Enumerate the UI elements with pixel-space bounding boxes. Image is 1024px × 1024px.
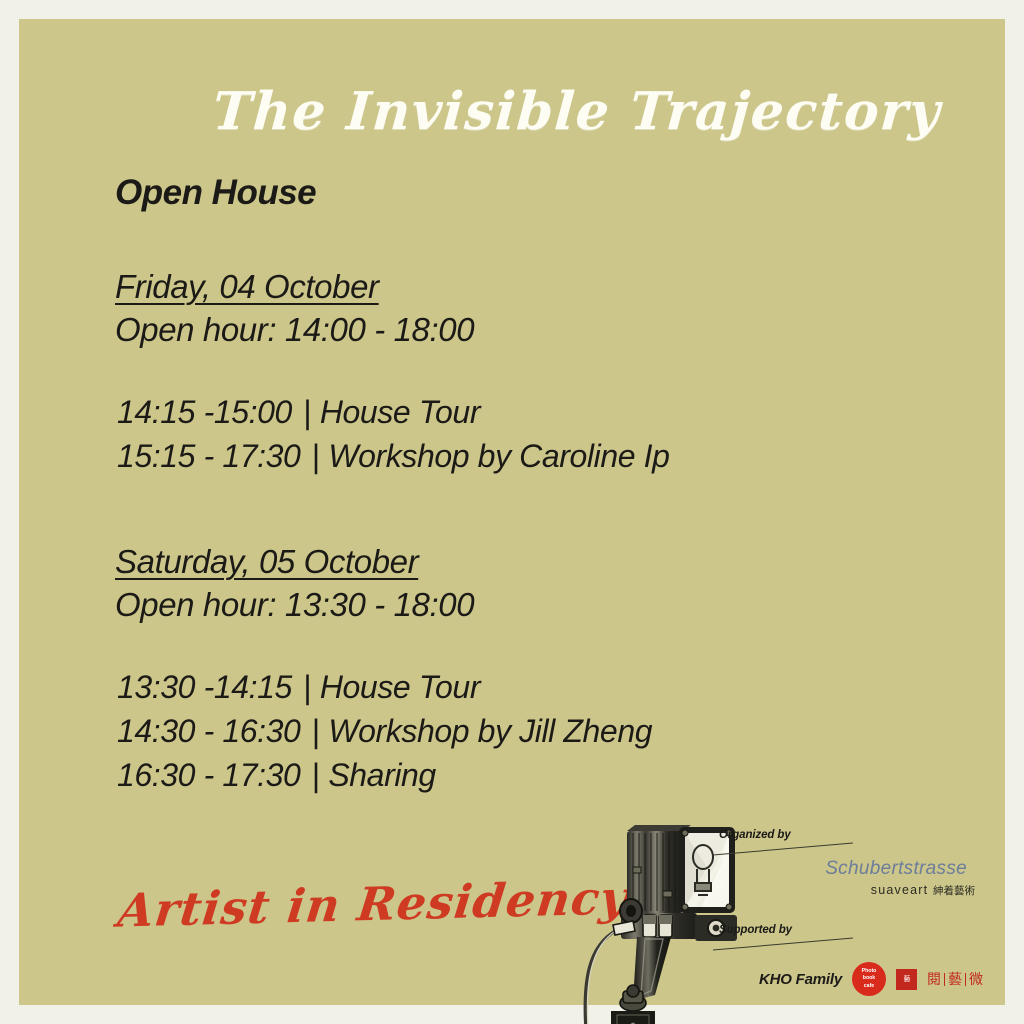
credits-block: Organized by Schubertstrasse suaveart 紳着… [719, 829, 989, 996]
session-row: 15:15 - 17:30|Workshop by Caroline Ip [117, 434, 670, 478]
red-seal-logo: 藝 [896, 969, 917, 990]
pbc-line-2: book [863, 975, 875, 983]
day-block-friday: Friday, 04 October Open hour: 14:00 - 18… [115, 265, 670, 478]
pbc-line-1: Photo [862, 968, 877, 976]
organized-by-label: Organized by [719, 829, 989, 841]
pbc-line-3: cafe [864, 983, 874, 991]
session-separator: | [300, 753, 328, 797]
session-name: Workshop by Jill Zheng [328, 713, 652, 749]
session-name: Workshop by Caroline Ip [328, 438, 669, 474]
cjk-supporter-logo: 閱 藝 微 [927, 969, 983, 989]
day-open-hour: Open hour: 13:30 - 18:00 [115, 583, 670, 627]
session-time: 16:30 - 17:30 [117, 757, 300, 793]
cjk-divider-bar [965, 973, 966, 986]
section-heading: Open House [115, 174, 670, 213]
schedule-section: Open House Friday, 04 October Open hour:… [115, 174, 670, 837]
session-row: 16:30 - 17:30|Sharing [117, 753, 670, 797]
cjk-mark-2: 藝 [948, 969, 962, 989]
page-title: The Invisible Trajectory [211, 81, 943, 142]
session-row: 14:15 -15:00|House Tour [117, 390, 670, 434]
session-list: 13:30 -14:15|House Tour 14:30 - 16:30|Wo… [115, 665, 670, 797]
session-separator: | [292, 665, 320, 709]
supporter-logo-row: KHO Family Photo book cafe 藝 閱 藝 微 [719, 962, 989, 996]
supported-by-label: Supported by [719, 924, 989, 936]
cjk-divider-bar [944, 973, 945, 986]
session-name: Sharing [328, 757, 436, 793]
session-name: House Tour [320, 394, 480, 430]
day-date: Saturday, 05 October [115, 540, 670, 584]
brand-schubertstrasse: Schubertstrasse [719, 858, 989, 880]
supporter-kho-family: KHO Family [759, 971, 842, 988]
day-open-hour: Open hour: 14:00 - 18:00 [115, 308, 670, 352]
session-separator: | [292, 390, 320, 434]
cjk-mark-3: 微 [969, 969, 983, 989]
cjk-mark-1: 閱 [927, 969, 941, 989]
poster-canvas: The Invisible Trajectory Open House Frid… [0, 0, 1024, 1024]
divider-line [713, 842, 853, 856]
brand-suaveart: suaveart 紳着藝術 [719, 883, 989, 898]
session-time: 15:15 - 17:30 [117, 438, 300, 474]
day-date: Friday, 04 October [115, 265, 670, 309]
session-list: 14:15 -15:00|House Tour 15:15 - 17:30|Wo… [115, 390, 670, 478]
photo-book-cafe-logo: Photo book cafe [852, 962, 886, 996]
session-time: 13:30 -14:15 [117, 669, 292, 705]
brand-suaveart-cjk: 紳着藝術 [933, 885, 975, 897]
brand-suaveart-latin: suaveart [871, 883, 929, 897]
artist-in-residency-mark: Artist in Residency [115, 870, 631, 937]
session-row: 13:30 -14:15|House Tour [117, 665, 670, 709]
organized-by-group: Organized by Schubertstrasse suaveart 紳着… [719, 829, 989, 898]
session-row: 14:30 - 16:30|Workshop by Jill Zheng [117, 709, 670, 753]
session-name: House Tour [320, 669, 480, 705]
session-time: 14:15 -15:00 [117, 394, 292, 430]
supported-by-group: Supported by KHO Family Photo book cafe … [719, 924, 989, 996]
session-separator: | [300, 709, 328, 753]
divider-line [713, 937, 853, 951]
poster-panel: The Invisible Trajectory Open House Frid… [19, 19, 1005, 1005]
day-block-saturday: Saturday, 05 October Open hour: 13:30 - … [115, 540, 670, 798]
session-separator: | [300, 434, 328, 478]
session-time: 14:30 - 16:30 [117, 713, 300, 749]
